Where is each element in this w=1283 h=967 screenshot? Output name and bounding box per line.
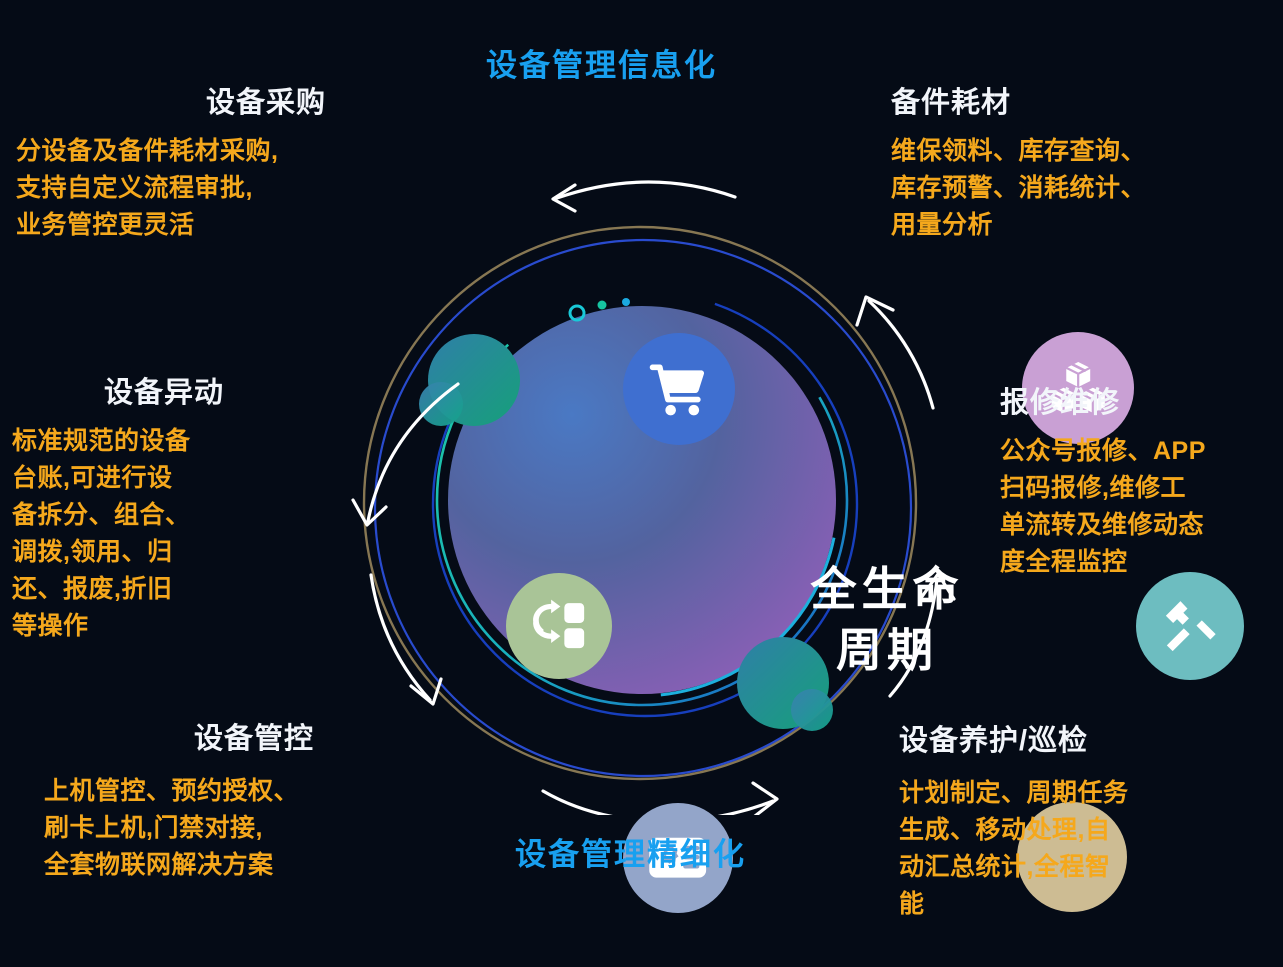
block-repair-title: 报修维修 xyxy=(1000,386,1283,421)
text-line: 库存预警、消耗统计、 xyxy=(891,170,1271,207)
flow-arrow-top-head xyxy=(553,185,575,211)
block-repair: 报修维修 公众号报修、APP 扫码报修,维修工 单流转及维修动态 度全程监控 xyxy=(1000,386,1283,581)
headline-top: 设备管理信息化 xyxy=(486,40,717,85)
orbit-svg xyxy=(245,155,1035,815)
text-line: 扫码报修,维修工 xyxy=(1000,470,1283,507)
flow-arrow-upper-right xyxy=(869,301,933,408)
text-line: 全套物联网解决方案 xyxy=(44,847,414,884)
flow-arrow-bottom-head xyxy=(753,783,777,815)
node-purchase[interactable] xyxy=(623,333,735,445)
headline-bottom: 设备管理精细化 xyxy=(515,829,746,874)
node-transfer[interactable] xyxy=(506,573,612,679)
infographic-canvas: 全生命 周期 xyxy=(0,0,1283,967)
block-purchase: 设备采购 分设备及备件耗材采购, 支持自定义流程审批, 业务管控更灵活 xyxy=(16,86,396,244)
text-line: 台账,可进行设 xyxy=(12,460,272,497)
text-line: 标准规范的设备 xyxy=(12,423,272,460)
block-control: 设备管控 上机管控、预约授权、 刷卡上机,门禁对接, 全套物联网解决方案 xyxy=(44,722,414,884)
text-line: 支持自定义流程审批, xyxy=(16,170,396,207)
tracker-dot-1 xyxy=(598,301,607,310)
text-line: 调拨,领用、归 xyxy=(12,534,272,571)
text-line: 业务管控更灵活 xyxy=(16,207,396,244)
decor-blob-lower-right xyxy=(737,637,833,731)
block-control-body: 上机管控、预约授权、 刷卡上机,门禁对接, 全套物联网解决方案 xyxy=(44,773,414,884)
text-line: 等操作 xyxy=(12,608,272,645)
block-maintain-body: 计划制定、周期任务 生成、移动处理,自 动汇总统计,全程智 能 xyxy=(899,775,1283,923)
text-line: 度全程监控 xyxy=(1000,544,1283,581)
text-line: 还、报废,折旧 xyxy=(12,571,272,608)
text-line: 刷卡上机,门禁对接, xyxy=(44,810,414,847)
block-spare-title: 备件耗材 xyxy=(891,86,1271,121)
text-line: 能 xyxy=(899,886,1283,923)
text-line: 备拆分、组合、 xyxy=(12,497,272,534)
text-line: 上机管控、预约授权、 xyxy=(44,773,414,810)
hammer-wrench-icon xyxy=(1161,597,1219,655)
decor-blob-upper-left xyxy=(419,334,520,426)
block-maintain: 设备养护/巡检 计划制定、周期任务 生成、移动处理,自 动汇总统计,全程智 能 xyxy=(899,724,1283,923)
block-spare-body: 维保领料、库存查询、 库存预警、消耗统计、 用量分析 xyxy=(891,133,1271,244)
transfer-arrows-icon xyxy=(530,597,587,654)
block-purchase-body: 分设备及备件耗材采购, 支持自定义流程审批, 业务管控更灵活 xyxy=(16,133,396,244)
flow-arrow-top xyxy=(557,182,735,198)
block-repair-body: 公众号报修、APP 扫码报修,维修工 单流转及维修动态 度全程监控 xyxy=(1000,433,1283,581)
text-line: 分设备及备件耗材采购, xyxy=(16,133,396,170)
text-line: 计划制定、周期任务 xyxy=(899,775,1283,812)
block-transfer-title: 设备异动 xyxy=(104,376,272,411)
node-repair[interactable] xyxy=(1136,572,1244,680)
text-line: 生成、移动处理,自 xyxy=(899,812,1283,849)
block-spare: 备件耗材 维保领料、库存查询、 库存预警、消耗统计、 用量分析 xyxy=(891,86,1271,244)
block-maintain-title: 设备养护/巡检 xyxy=(899,724,1283,759)
orbit-diagram: 全生命 周期 xyxy=(245,155,1035,815)
text-line: 单流转及维修动态 xyxy=(1000,507,1283,544)
block-transfer-body: 标准规范的设备 台账,可进行设 备拆分、组合、 调拨,领用、归 还、报废,折旧 … xyxy=(12,423,272,645)
text-line: 动汇总统计,全程智 xyxy=(899,849,1283,886)
block-transfer: 设备异动 标准规范的设备 台账,可进行设 备拆分、组合、 调拨,领用、归 还、报… xyxy=(12,376,272,645)
text-line: 维保领料、库存查询、 xyxy=(891,133,1271,170)
block-purchase-title: 设备采购 xyxy=(206,86,396,121)
shopping-cart-icon xyxy=(649,359,709,419)
block-control-title: 设备管控 xyxy=(194,722,414,757)
text-line: 用量分析 xyxy=(891,207,1271,244)
text-line: 公众号报修、APP xyxy=(1000,433,1283,470)
tracker-dot-2 xyxy=(622,298,630,306)
